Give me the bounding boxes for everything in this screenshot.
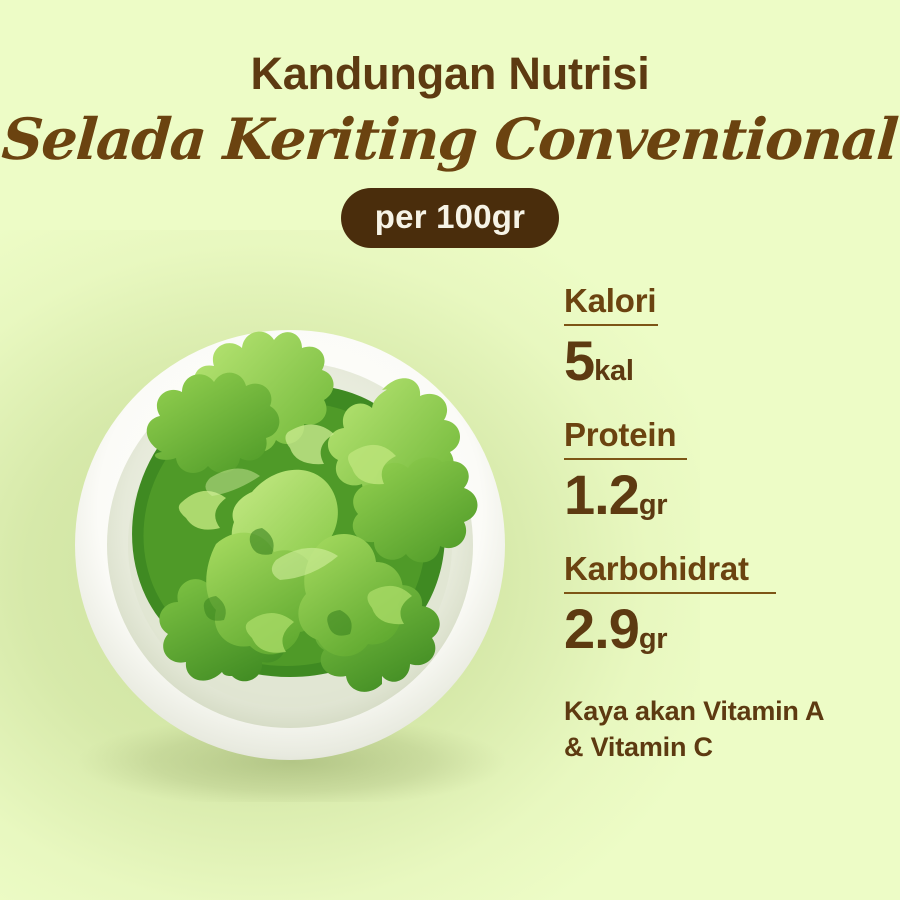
- nutrition-value-karbohidrat: 2.9gr: [564, 597, 894, 661]
- vitamins-note-line2: & Vitamin C: [564, 730, 894, 766]
- divider-karbohidrat: [564, 592, 776, 594]
- nutrition-fact-karbohidrat: Karbohidrat 2.9gr: [564, 551, 894, 661]
- vitamins-note: Kaya akan Vitamin A & Vitamin C: [564, 694, 894, 765]
- nutrition-label-protein: Protein: [564, 417, 676, 454]
- poster-header: Kandungan Nutrisi Selada Keriting Conven…: [0, 0, 900, 248]
- nutrition-label-karbohidrat: Karbohidrat: [564, 551, 749, 588]
- vitamins-note-line1: Kaya akan Vitamin A: [564, 694, 894, 730]
- nutrition-label-kalori: Kalori: [564, 283, 656, 320]
- nutrition-facts: Kalori 5kal Protein 1.2gr Karbohidrat 2.…: [564, 283, 894, 766]
- nutrition-fact-protein: Protein 1.2gr: [564, 417, 894, 527]
- nutrition-number-karbohidrat: 2.9: [564, 597, 639, 660]
- nutrition-value-protein: 1.2gr: [564, 463, 894, 527]
- divider-kalori: [564, 324, 658, 326]
- nutrition-fact-kalori: Kalori 5kal: [564, 283, 894, 393]
- nutrition-poster: Kandungan Nutrisi Selada Keriting Conven…: [0, 0, 900, 900]
- divider-protein: [564, 458, 687, 460]
- lettuce-bowl-image: [52, 292, 522, 802]
- lettuce-bowl-svg: [52, 292, 522, 802]
- product-subtitle: Selada Keriting Conventional: [0, 97, 900, 168]
- serving-size-badge: per 100gr: [341, 188, 559, 248]
- nutrition-value-kalori: 5kal: [564, 329, 894, 393]
- nutrition-unit-protein: gr: [639, 489, 667, 521]
- nutrition-unit-karbohidrat: gr: [639, 623, 667, 655]
- nutrition-unit-kalori: kal: [594, 355, 633, 387]
- serving-badge-wrap: per 100gr: [0, 188, 900, 248]
- page-title: Kandungan Nutrisi: [0, 0, 900, 97]
- nutrition-number-kalori: 5: [564, 329, 594, 392]
- nutrition-number-protein: 1.2: [564, 463, 639, 526]
